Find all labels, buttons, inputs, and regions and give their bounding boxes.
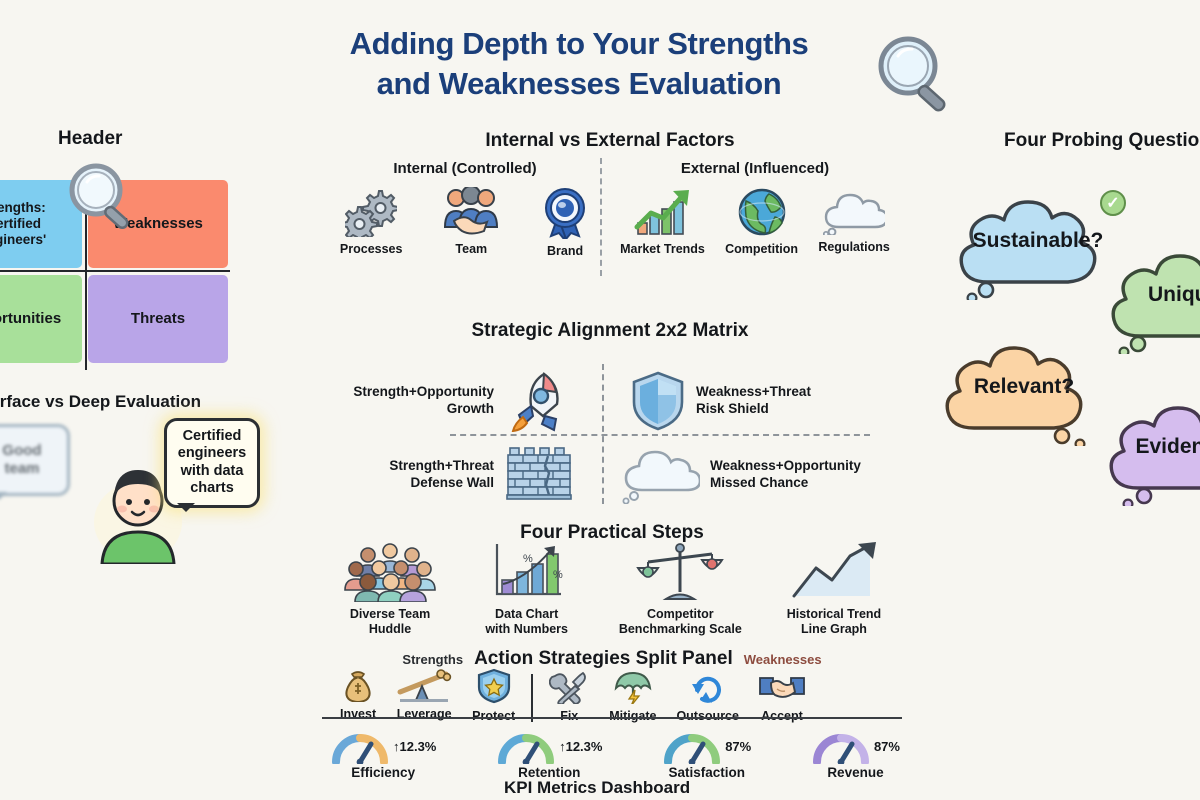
step-competitor-label: Competitor Benchmarking Scale: [619, 607, 742, 638]
matrix-heading: Strategic Alignment 2x2 Matrix: [330, 320, 890, 342]
step-diverse-team-label: Diverse Team Huddle: [350, 607, 430, 638]
factor-regulations-label: Regulations: [818, 240, 890, 255]
internal-external-section: Internal (Controlled) Processes: [320, 160, 900, 259]
surface-bubble-text: Good team: [2, 442, 41, 478]
matrix-missed-line1: Weakness+Opportunity: [710, 458, 861, 473]
swot-horizontal-divider: [0, 270, 230, 272]
probing-questions-heading: Four Probing Questions: [1004, 130, 1200, 152]
swot-quadrant-threats: Threats: [88, 275, 228, 363]
kpi-satisfaction: 87% Satisfaction: [662, 728, 751, 780]
globe-icon: [737, 187, 787, 237]
lever-icon: [396, 668, 452, 702]
action-strategies-heading: Action Strategies Split Panel: [474, 648, 733, 670]
factor-processes-label: Processes: [340, 242, 403, 257]
factor-team-label: Team: [455, 242, 487, 257]
gears-icon: [345, 187, 397, 237]
bar-chart-icon: % %: [487, 542, 567, 602]
matrix-defense-line1: Strength+Threat: [389, 458, 494, 473]
internal-external-divider: [600, 158, 602, 276]
probing-evidence-label: Evidence?: [1135, 435, 1200, 459]
growth-chart-arrow-icon: [633, 187, 693, 237]
action-leverage-label: Leverage: [397, 707, 452, 722]
action-invest-label: Invest: [340, 707, 376, 722]
matrix-growth-line1: Strength+Opportunity: [353, 384, 494, 399]
factor-competition-label: Competition: [725, 242, 798, 257]
probing-cloud-evidence: Evidence?: [1098, 388, 1200, 506]
kpi-efficiency: ↑12.3% Efficiency: [330, 728, 436, 780]
step1-line1: Diverse Team: [350, 607, 430, 621]
kpi-retention-value: ↑12.3%: [559, 739, 602, 754]
title-line-2: and Weaknesses Evaluation: [377, 66, 782, 101]
deep-evaluation-bubble: Certified engineers with data charts: [164, 418, 260, 508]
four-practical-steps-section: Diverse Team Huddle % % Data Cha: [322, 542, 902, 638]
infographic-canvas: Adding Depth to Your Strengths and Weakn…: [0, 0, 1200, 800]
probing-cloud-relevant: Relevant?: [934, 328, 1114, 446]
kpi-dashboard-heading: KPI Metrics Dashboard: [504, 778, 690, 798]
deep-bubble-text: Certified engineers with data charts: [178, 428, 247, 498]
handshake-team-icon: [442, 187, 500, 237]
handshake-icon: [759, 670, 805, 704]
action-leverage: Leverage: [396, 668, 452, 724]
factor-market-trends: Market Trends: [620, 187, 705, 257]
probing-sustainable-label: Sustainable?: [973, 229, 1104, 253]
step-competitor-benchmarking: Competitor Benchmarking Scale: [595, 542, 765, 638]
cloud-icon: [620, 446, 700, 504]
kpi-satisfaction-value: 87%: [725, 739, 751, 754]
kpi-revenue-label: Revenue: [827, 765, 883, 780]
kpi-retention: ↑12.3% Retention: [496, 728, 602, 780]
step-data-chart: % % Data Chart with Numbers: [459, 542, 595, 638]
matrix-horizontal-divider: [450, 434, 870, 436]
factor-market-trends-label: Market Trends: [620, 242, 705, 257]
step4-line2: Line Graph: [801, 622, 867, 636]
probing-relevant-label: Relevant?: [974, 375, 1074, 399]
factor-brand: Brand: [540, 187, 590, 259]
wrench-screwdriver-icon: [549, 670, 589, 704]
gauge-icon: [662, 728, 722, 764]
balance-scale-icon: [636, 542, 724, 602]
swot-magnifying-glass-icon: [62, 158, 138, 241]
matrix-missed-line2: Missed Chance: [710, 475, 808, 490]
factor-competition: Competition: [725, 187, 798, 257]
step-diverse-team: Diverse Team Huddle: [322, 542, 458, 638]
page-title: Adding Depth to Your Strengths and Weakn…: [300, 24, 960, 125]
matrix-cell-defense-wall: Strength+Threat Defense Wall: [368, 446, 578, 504]
main-title-text: Adding Depth to Your Strengths and Weakn…: [300, 24, 858, 103]
factor-regulations: Regulations: [818, 187, 890, 257]
practical-steps-heading: Four Practical Steps: [322, 522, 902, 544]
matrix-cell-missed-chance: Weakness+Opportunity Missed Chance: [620, 446, 882, 504]
action-strategies-underline: [322, 717, 902, 719]
brick-wall-icon: [504, 446, 578, 504]
group-people-icon: [344, 542, 436, 602]
step1-line2: Huddle: [369, 622, 411, 636]
matrix-cell-growth: Strength+Opportunity Growth: [344, 370, 570, 432]
step3-line2: Benchmarking Scale: [619, 622, 742, 636]
step-data-chart-label: Data Chart with Numbers: [485, 607, 568, 638]
matrix-growth-line2: Growth: [447, 401, 494, 416]
title-line-1: Adding Depth to Your Strengths: [350, 26, 809, 61]
internal-external-heading: Internal vs External Factors: [320, 130, 900, 152]
award-ribbon-icon: [540, 187, 590, 239]
kpi-efficiency-value: ↑12.3%: [393, 739, 436, 754]
action-strategies-divider: [531, 674, 533, 722]
swot-threats-label: Threats: [131, 310, 185, 328]
matrix-cell-risk-shield: Weakness+Threat Risk Shield: [630, 370, 856, 432]
factor-team: Team: [442, 187, 500, 259]
step2-line1: Data Chart: [495, 607, 558, 621]
svg-text:%: %: [553, 569, 563, 581]
kpi-revenue: 87% Revenue: [811, 728, 900, 780]
swot-strengths-label: Strengths: 'Certified Engineers': [0, 200, 46, 248]
cloud-icon: [823, 187, 885, 235]
check-glyph: ✓: [1106, 193, 1119, 213]
step-historical-trend: Historical Trend Line Graph: [766, 542, 902, 638]
internal-label: Internal (Controlled): [320, 160, 610, 177]
umbrella-lightning-icon: [613, 670, 653, 704]
action-strategies-titlebar: Strengths Action Strategies Split Panel …: [322, 648, 902, 670]
swot-header-label: Header: [58, 128, 122, 150]
step-historical-label: Historical Trend Line Graph: [787, 607, 881, 638]
matrix-risk-line2: Risk Shield: [696, 401, 769, 416]
action-strengths-label: Strengths: [402, 652, 463, 667]
external-factors-group: External (Influenced) Market Trends: [610, 160, 900, 259]
factor-processes: Processes: [340, 187, 403, 259]
strength-actions-group: Invest Leverage Protect: [322, 668, 515, 724]
gauge-icon: [811, 728, 871, 764]
probing-cloud-unique: Unique?: [1100, 236, 1200, 354]
matrix-defense-line2: Defense Wall: [410, 475, 494, 490]
swot-quadrant-opportunities: Opportunities: [0, 275, 82, 363]
strategic-alignment-matrix: Strength+Opportunity Growth Weakness+Thr…: [330, 348, 890, 508]
magnifying-glass-icon: [868, 28, 960, 125]
action-weaknesses-label: Weaknesses: [744, 652, 822, 667]
swot-opportunities-label: Opportunities: [0, 310, 61, 328]
surface-vs-deep-heading: Surface vs Deep Evaluation: [0, 392, 258, 412]
kpi-revenue-value: 87%: [874, 739, 900, 754]
action-invest: Invest: [340, 668, 376, 724]
svg-text:%: %: [523, 553, 533, 565]
money-bag-icon: [340, 668, 376, 702]
matrix-risk-line1: Weakness+Threat: [696, 384, 811, 399]
surface-evaluation-bubble: Good team: [0, 424, 70, 496]
check-circle-icon: ✓: [1100, 190, 1126, 216]
recycle-arrows-icon: [690, 670, 726, 704]
gauge-icon: [496, 728, 556, 764]
kpi-dashboard-row: ↑12.3% Efficiency ↑12.3% Retention: [330, 728, 900, 780]
internal-factors-group: Internal (Controlled) Processes: [320, 160, 610, 259]
line-graph-icon: [788, 542, 880, 602]
kpi-efficiency-label: Efficiency: [351, 765, 415, 780]
external-label: External (Influenced): [610, 160, 900, 177]
step3-line1: Competitor: [647, 607, 714, 621]
shield-icon: [630, 370, 686, 432]
action-protect: Protect: [472, 668, 515, 724]
rocket-icon: [504, 370, 570, 432]
probing-unique-label: Unique?: [1148, 283, 1200, 307]
step2-line2: with Numbers: [485, 622, 568, 636]
factor-brand-label: Brand: [547, 244, 583, 259]
action-strategies-row: Invest Leverage Protect: [322, 668, 902, 724]
shield-star-icon: [477, 668, 511, 704]
step4-line1: Historical Trend: [787, 607, 881, 621]
gauge-icon: [330, 728, 390, 764]
